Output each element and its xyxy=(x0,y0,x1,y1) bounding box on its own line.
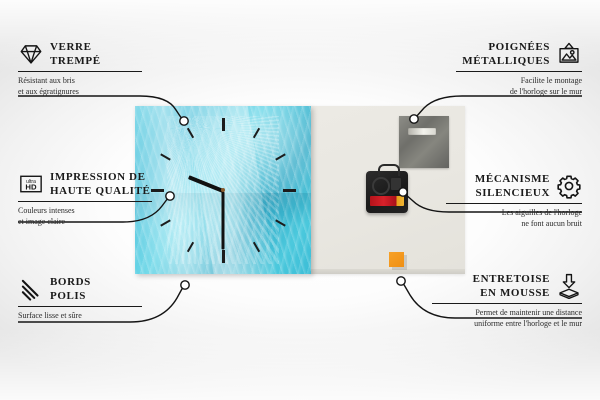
feature-rule xyxy=(18,306,142,307)
infographic-canvas: VERRE TREMPÉ Résistant aux bris et aux é… xyxy=(0,0,600,400)
feature-callout-mecanisme: MÉCANISME SILENCIEUX Les aiguilles de l'… xyxy=(446,172,582,229)
diamond-icon xyxy=(18,41,44,67)
feature-title-line1: BORDS xyxy=(50,275,91,289)
feature-callout-verre-trempe: VERRE TREMPÉ Résistant aux bris et aux é… xyxy=(18,40,142,97)
feature-title-line2: POLIS xyxy=(50,289,91,303)
feature-desc-line1: Permet de maintenir une distance xyxy=(432,308,582,319)
feature-title-line1: ENTRETOISE xyxy=(473,272,550,286)
feature-rule xyxy=(432,303,582,304)
product-photo xyxy=(135,106,465,274)
battery xyxy=(370,196,404,206)
feature-title-line2: HAUTE QUALITÉ xyxy=(50,184,150,198)
feature-desc-line2: de l'horloge sur le mur xyxy=(456,87,582,98)
clock-tick xyxy=(283,189,296,192)
feature-rule xyxy=(18,71,142,72)
feature-desc-line1: Surface lisse et sûre xyxy=(18,311,142,322)
feature-callout-bords-polis: BORDS POLIS Surface lisse et sûre xyxy=(18,275,142,322)
clock-tick xyxy=(222,250,225,263)
metal-hanger-plate xyxy=(399,116,449,168)
gear-icon xyxy=(556,173,582,199)
feature-callout-poignees: POIGNÉES MÉTALLIQUES Facilite le montage… xyxy=(456,40,582,97)
feature-desc-line2: ne font aucun bruit xyxy=(446,219,582,230)
feature-rule xyxy=(456,71,582,72)
mechanism-dial xyxy=(372,177,390,195)
ultra-hd-icon: ultra HD xyxy=(18,171,44,197)
feature-title-line1: IMPRESSION DE xyxy=(50,170,150,184)
mechanism-housing xyxy=(391,178,401,190)
feature-desc-line1: Couleurs intenses xyxy=(18,206,152,217)
diagonal-lines-icon xyxy=(18,276,44,302)
feature-title-line1: VERRE xyxy=(50,40,101,54)
feature-desc-line2: et image claire xyxy=(18,217,152,228)
clock-tick xyxy=(151,189,164,192)
arrow-on-pad-icon xyxy=(556,273,582,299)
feature-title-line2: EN MOUSSE xyxy=(473,286,550,300)
feature-title-line1: MÉCANISME xyxy=(475,172,550,186)
feature-desc-line2: uniforme entre l'horloge et le mur xyxy=(432,319,582,330)
mechanism-hang-loop xyxy=(378,164,400,176)
feature-title-line1: POIGNÉES xyxy=(462,40,550,54)
foam-spacer xyxy=(389,252,404,267)
feature-title-line2: MÉTALLIQUES xyxy=(462,54,550,68)
feature-desc-line1: Les aiguilles de l'horloge xyxy=(446,208,582,219)
feature-rule xyxy=(18,201,152,202)
clock-tick xyxy=(222,118,225,131)
framed-picture-icon xyxy=(556,41,582,67)
feature-callout-entretoise: ENTRETOISE EN MOUSSE Permet de maintenir… xyxy=(432,272,582,329)
svg-text:HD: HD xyxy=(25,183,37,192)
clock-center-pin xyxy=(221,188,225,192)
wall-clock-face xyxy=(135,106,311,274)
feature-title-line2: SILENCIEUX xyxy=(475,186,550,200)
clock-minute-hand xyxy=(222,191,225,249)
feature-callout-impression: ultra HD IMPRESSION DE HAUTE QUALITÉ Cou… xyxy=(18,170,152,227)
clock-mechanism xyxy=(366,171,408,213)
hanger-slot xyxy=(408,128,436,135)
feature-desc-line1: Facilite le montage xyxy=(456,76,582,87)
feature-desc-line2: et aux égratignures xyxy=(18,87,142,98)
feature-desc-line1: Résistant aux bris xyxy=(18,76,142,87)
feature-rule xyxy=(446,203,582,204)
feature-title-line2: TREMPÉ xyxy=(50,54,101,68)
